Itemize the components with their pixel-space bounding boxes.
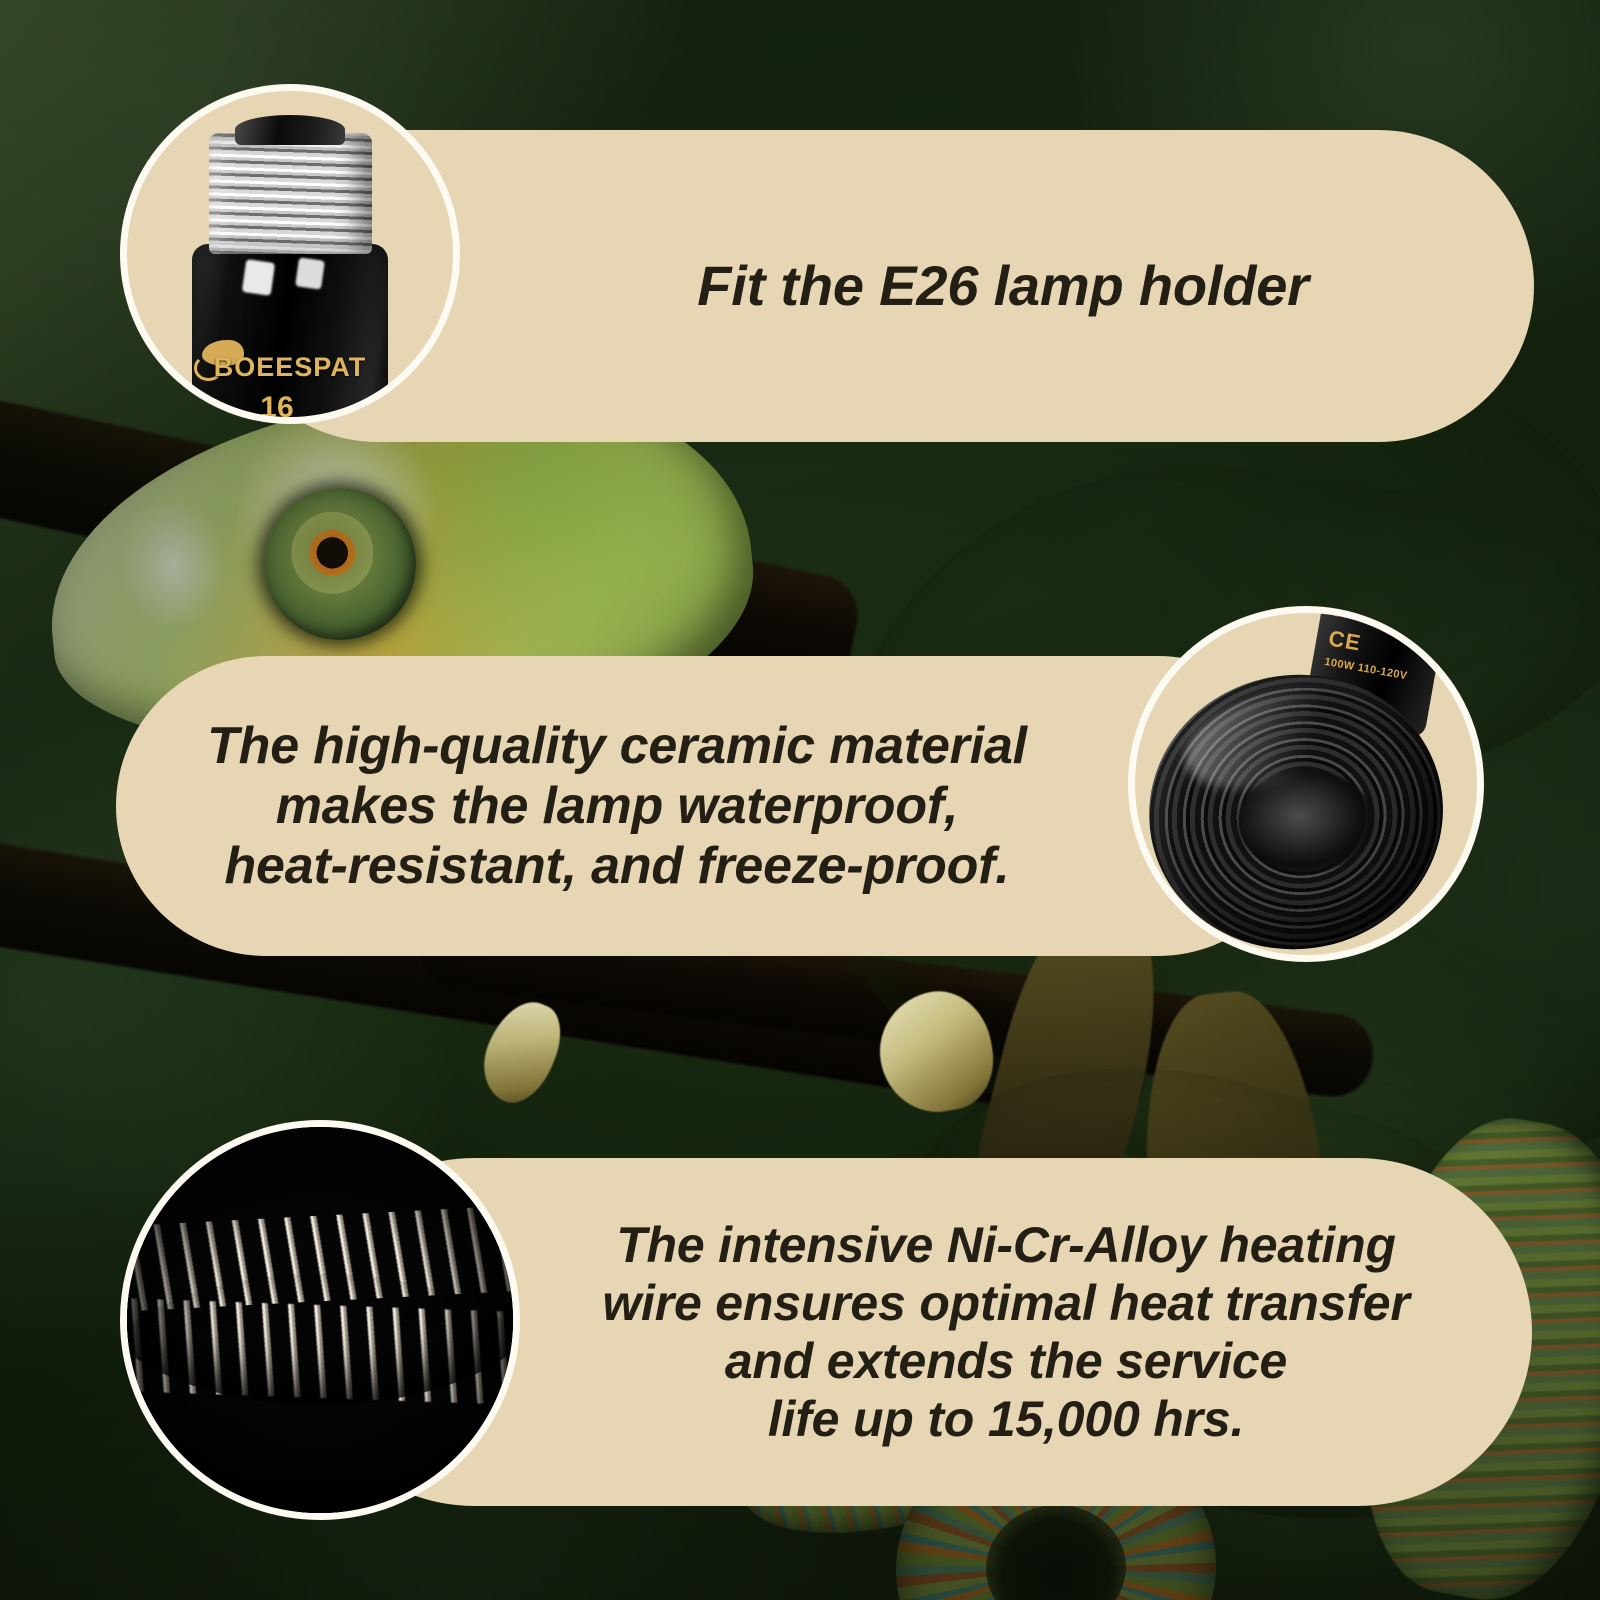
product-circle-ceramic-emitter: BOEESPAT CE 100W 110-120V <box>1128 606 1484 962</box>
bulb-wattage-mark: 16 <box>260 391 293 424</box>
feature-text-line: makes the lamp waterproof, <box>207 776 1027 836</box>
infographic-canvas: Fit the E26 lamp holder The high-quality… <box>0 0 1600 1600</box>
bulb-highlight <box>242 259 276 295</box>
feature-text-line: and extends the service <box>602 1332 1409 1390</box>
bulb-contact-tip <box>235 115 346 144</box>
e26-screw-base <box>209 133 372 254</box>
wire-vignette <box>127 1127 513 1513</box>
feature-text-line: Fit the E26 lamp holder <box>697 254 1309 319</box>
feature-text-line: wire ensures optimal heat transfer <box>602 1274 1409 1332</box>
brand-logo-text: BOEESPAT <box>214 352 367 383</box>
feature-text-line: The high-quality ceramic material <box>207 716 1027 776</box>
feature-text-line: heat-resistant, and freeze-proof. <box>207 836 1027 896</box>
bulb-highlight <box>295 257 325 290</box>
feature-text-line: life up to 15,000 hrs. <box>602 1390 1409 1448</box>
bulb-illustration: BOEESPAT 16 <box>127 91 453 417</box>
feature-text-line: The intensive Ni-Cr-Alloy heating <box>602 1216 1409 1274</box>
feature-text-block: The intensive Ni-Cr-Alloy heating wire e… <box>602 1216 1409 1448</box>
feature-text-block: The high-quality ceramic material makes … <box>207 716 1027 897</box>
product-circle-e26-bulb: BOEESPAT 16 <box>120 84 460 424</box>
product-circle-heating-wire <box>120 1120 520 1520</box>
